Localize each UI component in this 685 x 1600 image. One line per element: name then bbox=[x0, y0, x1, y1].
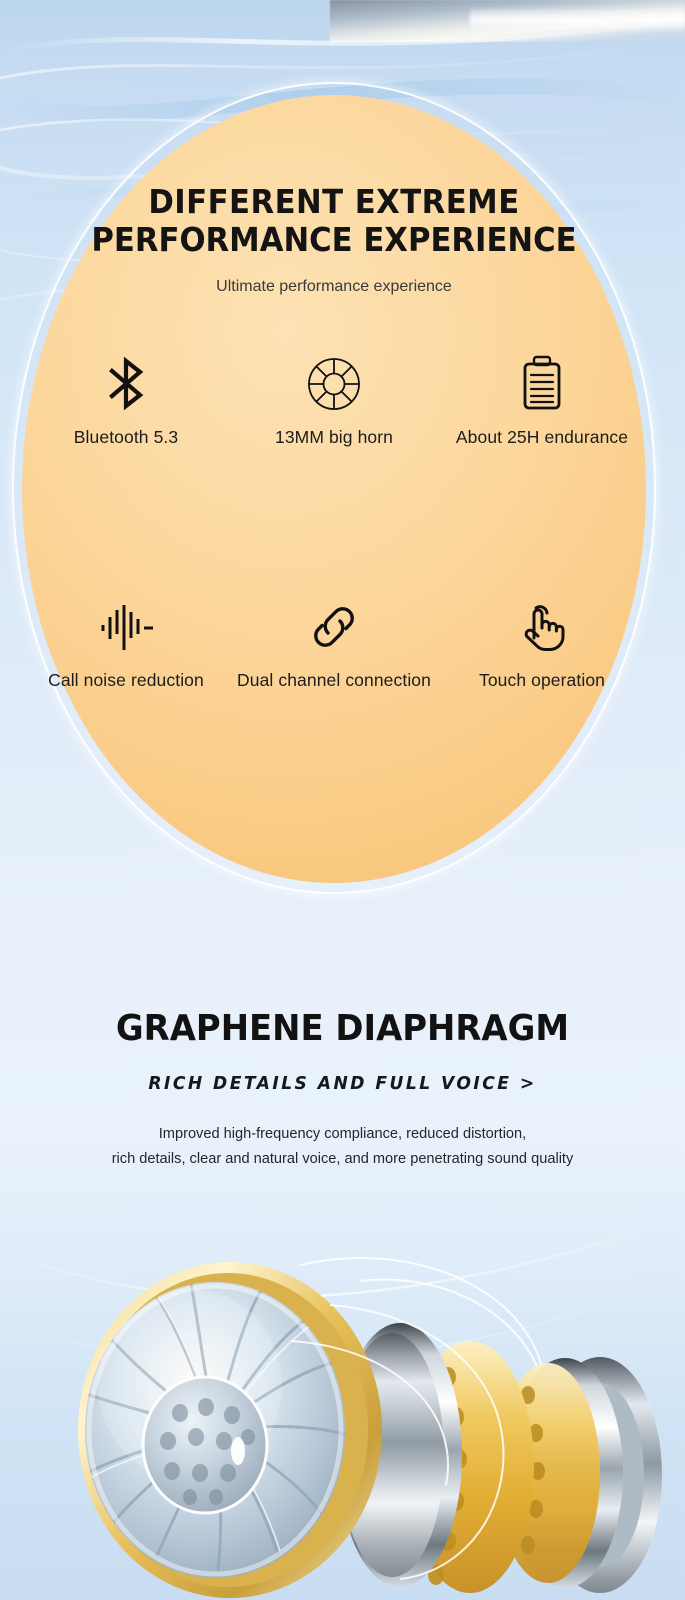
feature-item-dual-channel[interactable]: Dual channel connection bbox=[230, 596, 438, 691]
feature-item-driver[interactable]: 13MM big horn bbox=[230, 353, 438, 448]
feature-label: Dual channel connection bbox=[237, 670, 431, 691]
product-detail-page: DIFFERENT EXTREME PERFORMANCE EXPERIENCE… bbox=[0, 0, 685, 1600]
feature-label: 13MM big horn bbox=[275, 427, 393, 448]
feature-label: Call noise reduction bbox=[48, 670, 204, 691]
graphene-body: Improved high-frequency compliance, redu… bbox=[0, 1122, 685, 1172]
feature-label-line1: Dual channel bbox=[237, 670, 340, 690]
feature-label-line1: Call noise bbox=[48, 670, 126, 690]
hero-headline-line2: PERFORMANCE EXPERIENCE bbox=[44, 221, 624, 259]
waveform-icon bbox=[96, 596, 156, 658]
graphene-subtitle: RICH DETAILS AND FULL VOICE > bbox=[17, 1073, 668, 1094]
graphene-body-line2: rich details, clear and natural voice, a… bbox=[0, 1147, 685, 1172]
feature-item-noise-reduction[interactable]: Call noise reduction bbox=[22, 596, 230, 691]
speaker-driver-icon bbox=[305, 353, 363, 415]
feature-item-touch[interactable]: Touch operation bbox=[438, 596, 646, 691]
feature-label: About 25H endurance bbox=[456, 427, 628, 448]
feature-label: Touch operation bbox=[479, 670, 605, 691]
feature-row-2: Call noise reduction Du bbox=[22, 596, 646, 691]
touch-hand-icon bbox=[514, 596, 570, 658]
feature-item-bluetooth[interactable]: Bluetooth 5.3 bbox=[22, 353, 230, 448]
feature-label-line1: About 25H bbox=[456, 427, 540, 447]
graphene-body-line1: Improved high-frequency compliance, redu… bbox=[0, 1122, 685, 1147]
hero-headline-line1: DIFFERENT EXTREME bbox=[148, 182, 519, 221]
graphene-title: GRAPHENE DIAPHRAGM bbox=[21, 1008, 665, 1050]
battery-icon bbox=[516, 353, 568, 415]
speaker-driver-exploded-render bbox=[0, 1245, 685, 1600]
feature-grid: Bluetooth 5.3 bbox=[22, 353, 646, 691]
hero-subheadline: Ultimate performance experience bbox=[22, 278, 646, 296]
feature-label-line2: reduction bbox=[131, 670, 204, 690]
feature-row-1: Bluetooth 5.3 bbox=[22, 353, 646, 448]
feature-label: Bluetooth 5.3 bbox=[74, 427, 178, 448]
feature-label-line2: endurance bbox=[544, 427, 628, 447]
hero-headline: DIFFERENT EXTREME PERFORMANCE EXPERIENCE bbox=[44, 183, 624, 259]
feature-card: DIFFERENT EXTREME PERFORMANCE EXPERIENCE… bbox=[22, 95, 646, 883]
chain-link-icon bbox=[304, 596, 364, 658]
feature-item-endurance[interactable]: About 25H endurance bbox=[438, 353, 646, 448]
bluetooth-icon bbox=[99, 353, 153, 415]
feature-label-line2: connection bbox=[345, 670, 431, 690]
